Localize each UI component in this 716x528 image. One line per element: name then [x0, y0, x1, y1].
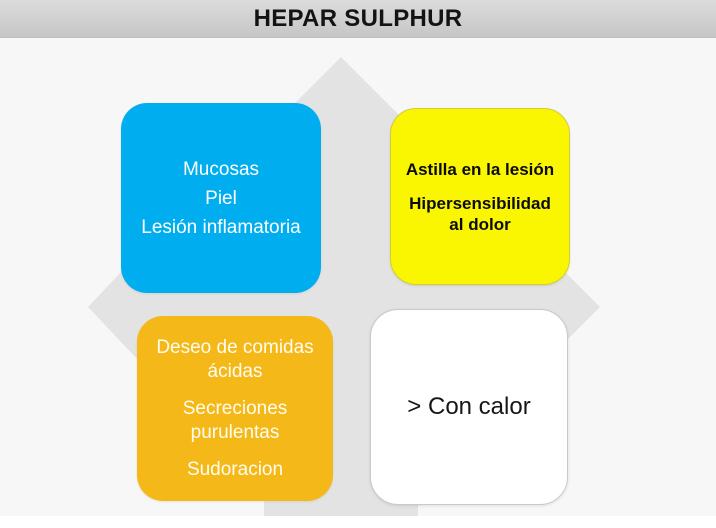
page-title: HEPAR SULPHUR — [0, 0, 716, 37]
quadrant-blue[interactable]: Mucosas Piel Lesión inflamatoria — [121, 103, 321, 293]
quadrant-yellow-para-1: Astilla en la lesión — [406, 159, 554, 180]
quadrant-yellow[interactable]: Astilla en la lesión Hipersensibilidad a… — [390, 108, 570, 285]
title-bar: HEPAR SULPHUR — [0, 0, 716, 38]
quadrant-orange-para-3: Sudoracion — [187, 458, 283, 482]
quadrant-white-line-1: > Con calor — [383, 392, 555, 422]
quadrant-orange[interactable]: Deseo de comidas ácidas Secreciones puru… — [137, 316, 333, 501]
slide-root: HEPAR SULPHUR Mucosas Piel Lesión inflam… — [0, 0, 716, 528]
quadrant-orange-para-1: Deseo de comidas ácidas — [149, 336, 321, 384]
quadrant-blue-line-2: Piel — [133, 184, 309, 213]
quadrant-blue-line-1: Mucosas — [133, 155, 309, 184]
quadrant-white[interactable]: > Con calor — [370, 309, 568, 505]
bottom-strip — [0, 516, 716, 528]
quadrant-orange-para-2: Secreciones purulentas — [149, 397, 321, 445]
quadrant-yellow-para-2: Hipersensibilidad al dolor — [403, 193, 557, 235]
diagram-canvas: Mucosas Piel Lesión inflamatoria Astilla… — [0, 38, 716, 528]
quadrant-blue-line-3: Lesión inflamatoria — [133, 213, 309, 242]
